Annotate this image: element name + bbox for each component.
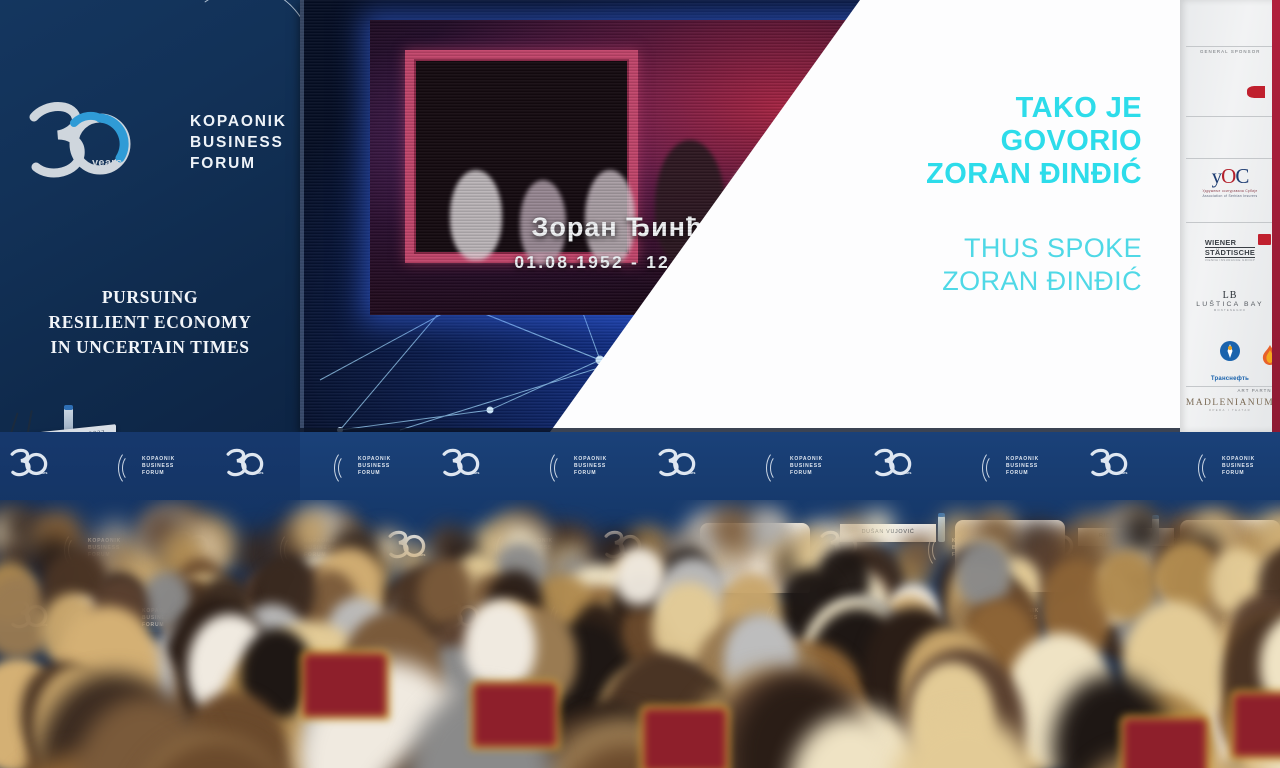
audience-head: [464, 600, 537, 691]
sponsor-lustica: LB LUŠTICA BAY MONTENEGRO: [1180, 290, 1280, 312]
transneft-icon: [1219, 340, 1241, 362]
tagline-line-2: RESILIENT ECONOMY: [0, 310, 300, 335]
backdrop-kbf-text: KOPAONIKBUSINESSFORUM: [1222, 456, 1255, 477]
yoc-sub-2: Association of Serbian Insurers: [1180, 194, 1280, 199]
slide-title-line-3: ZORAN ĐINĐIĆ: [842, 158, 1142, 191]
backdrop-thirty-icon: [442, 448, 482, 480]
audience-head: [4, 507, 36, 543]
backdrop-kbf-text: KOPAONIKBUSINESSFORUM: [790, 456, 823, 477]
tagline-line-3: IN UNCERTAIN TIMES: [0, 335, 300, 360]
backdrop-kbf-wordmark: KOPAONIKBUSINESSFORUM: [550, 448, 608, 488]
audience-chair: [1120, 715, 1210, 768]
audience: [0, 500, 1280, 768]
logo-arc-group: [140, 95, 186, 205]
lustica-mark: LB: [1180, 290, 1280, 301]
backdrop-thirty-mark: years: [10, 448, 68, 488]
sponsor-yoc: yOC Удружење осигуравача Србије Associat…: [1180, 164, 1280, 199]
audience-head: [292, 509, 331, 552]
lustica-line-1: LUŠTICA BAY: [1180, 301, 1280, 308]
backdrop-kbf-wordmark: KOPAONIKBUSINESSFORUM: [334, 448, 392, 488]
logo-years-label: years: [92, 157, 122, 169]
backdrop-thirty-icon: [226, 448, 266, 480]
tagline-line-1: PURSUING: [0, 285, 300, 310]
backdrop-thirty-mark: years: [442, 448, 500, 488]
slide-wedge: [300, 0, 1180, 432]
backdrop-thirty-icon: [658, 448, 698, 480]
backdrop-kbf-wordmark: KOPAONIKBUSINESSFORUM: [766, 448, 824, 488]
madlenianum-sub: OPERA I TEATAR: [1180, 408, 1280, 412]
madlenianum-label: MADLENIANUM: [1180, 398, 1280, 408]
sponsor-panel: GENERAL SPONSOR yOC Удружење осигуравача…: [1180, 0, 1280, 432]
audience-head: [710, 504, 753, 552]
projection-screen: Зоран Ђинђић 01.08.1952 - 12.03.2003 TAK…: [300, 0, 1180, 432]
slide-subtitle-line-2: ZORAN ĐINĐIĆ: [842, 265, 1142, 298]
kbf-wordmark: KOPAONIK BUSINESS FORUM: [190, 111, 287, 174]
vienna-insurance-mark: [1258, 234, 1271, 245]
slide-subtitle-line-1: THUS SPOKE: [842, 232, 1142, 265]
backdrop-thirty-mark: years: [226, 448, 284, 488]
wiener-line-1: WIENER: [1205, 238, 1255, 248]
general-sponsor-mark: [1247, 86, 1265, 98]
audience-head: [956, 541, 1012, 607]
panel-right-accent: [1272, 0, 1280, 432]
bottle-cap: [64, 405, 73, 410]
audience-chair: [1230, 690, 1280, 760]
backdrop-kbf-wordmark: KOPAONIKBUSINESSFORUM: [118, 448, 176, 488]
audience-head: [615, 547, 664, 605]
audience-head: [863, 510, 894, 545]
backdrop-thirty-icon: [10, 448, 50, 480]
backdrop-thirty-mark: years: [658, 448, 716, 488]
audience-head: [902, 532, 937, 571]
slide-title-line-1: TAKO JE: [842, 92, 1142, 125]
sponsor-wiener: WIENER STÄDTISCHE VIENNA INSURANCE GROUP: [1180, 238, 1280, 266]
backdrop-kbf-text: KOPAONIKBUSINESSFORUM: [142, 456, 175, 477]
backdrop-kbf-text: KOPAONIKBUSINESSFORUM: [574, 456, 607, 477]
lustica-line-2: MONTENEGRO: [1180, 308, 1280, 312]
wiener-line-2: STÄDTISCHE: [1205, 248, 1255, 258]
audience-head: [1124, 510, 1162, 552]
kbf-line-1: KOPAONIK: [190, 111, 287, 132]
left-banner: years KOPAONIK BUSINESS FORUM PURSUING R…: [0, 0, 300, 440]
conference-photo: years KOPAONIK BUSINESS FORUM PURSUING R…: [0, 0, 1280, 768]
audience-chair: [470, 680, 560, 750]
slide-subtitle: THUS SPOKE ZORAN ĐINĐIĆ: [842, 232, 1142, 298]
yoc-mark: yOC: [1180, 164, 1280, 189]
slide-title-line-2: GOVORIO: [842, 125, 1142, 158]
backdrop-thirty-icon: [1090, 448, 1130, 480]
audience-chair: [640, 705, 730, 768]
wiener-line-3: VIENNA INSURANCE GROUP: [1205, 258, 1255, 262]
sponsor-caption-general: GENERAL SPONSOR: [1200, 49, 1261, 54]
backdrop-kbf-text: KOPAONIKBUSINESSFORUM: [1006, 456, 1039, 477]
audience-chair: [300, 650, 390, 720]
backdrop-thirty-mark: years: [874, 448, 932, 488]
backdrop-thirty-mark: years: [1090, 448, 1148, 488]
kbf-logo: years KOPAONIK BUSINESS FORUM: [28, 95, 278, 205]
screen-left-edge: [300, 0, 304, 432]
backdrop-thirty-icon: [874, 448, 914, 480]
sponsor-madlenianum: MADLENIANUM OPERA I TEATAR: [1180, 398, 1280, 412]
audience-head: [418, 559, 474, 625]
slide-title: TAKO JE GOVORIO ZORAN ĐINĐIĆ: [842, 92, 1142, 191]
backdrop-kbf-wordmark: KOPAONIKBUSINESSFORUM: [1198, 448, 1256, 488]
banner-tagline: PURSUING RESILIENT ECONOMY IN UNCERTAIN …: [0, 285, 300, 360]
backdrop-kbf-wordmark: KOPAONIKBUSINESSFORUM: [982, 448, 1040, 488]
thirty-years-mark: [28, 101, 138, 187]
audience-head: [755, 512, 785, 546]
kbf-line-2: BUSINESS: [190, 132, 287, 153]
backdrop-kbf-text: KOPAONIKBUSINESSFORUM: [358, 456, 391, 477]
kbf-line-3: FORUM: [190, 153, 287, 174]
